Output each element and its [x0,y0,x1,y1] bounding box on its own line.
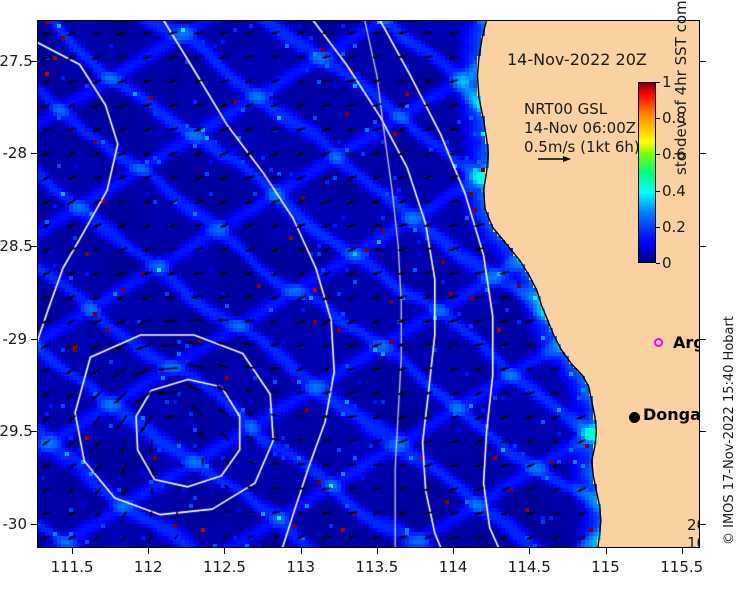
y-tick-label: -29.5 [0,422,27,440]
x-tick-label: 113 [286,558,315,576]
y-tick-right [700,339,706,340]
x-tick-label: 113.5 [355,558,398,576]
y-tick-right [700,153,706,154]
x-tick-label: 114.5 [508,558,551,576]
x-tick [224,548,225,554]
x-tick-label: 115.5 [660,558,703,576]
depth-legend-200m: 200m [687,516,700,534]
y-tick-label: -27.5 [0,52,27,70]
colorbar [638,82,656,263]
colorbar-gradient [639,83,655,262]
dongara-marker-icon [629,412,640,423]
y-tick-label: -30 [0,515,27,533]
colorbar-tick [656,118,660,119]
x-tick-label: 114 [439,558,468,576]
y-tick-right [700,524,706,525]
x-tick [453,548,454,554]
y-tick-right [700,61,706,62]
x-tick [606,548,607,554]
x-tick [72,548,73,554]
colorbar-title: std dev of 4hr SST comp [672,0,690,175]
copyright-text: © IMOS 17-Nov-2022 15:40 Hobart [722,316,737,545]
colorbar-tick-label: 1 [662,73,672,91]
x-tick-label: 112 [134,558,163,576]
colorbar-tick [656,191,660,192]
figure-root: 14-Nov-2022 20Z NRT00 GSL 14-Nov 06:00Z … [0,0,740,592]
x-tick [682,548,683,554]
colorbar-tick [656,263,660,264]
source-annotation: NRT00 GSL 14-Nov 06:00Z 0.5m/s (1kt 6h) [524,100,640,157]
y-tick-label: -29 [0,330,27,348]
argo-float-icon [654,338,663,347]
y-tick [31,524,37,525]
colorbar-tick [656,227,660,228]
colorbar-tick-label: 0.2 [662,218,686,236]
x-tick-label: 111.5 [51,558,94,576]
colorbar-tick-label: 0 [662,254,672,272]
velocity-scale-arrow [537,153,571,165]
colorbar-tick-label: 0.4 [662,182,686,200]
colorbar-tick [656,82,660,83]
y-tick-label: -28.5 [0,237,27,255]
x-tick [529,548,530,554]
x-tick [301,548,302,554]
y-tick [31,153,37,154]
x-tick [148,548,149,554]
argo-label: Argo [673,333,700,352]
colorbar-tick [656,154,660,155]
depth-legend-1000m: 1000m [687,534,700,548]
y-tick [31,339,37,340]
y-tick-label: -28 [0,144,27,162]
y-tick-right [700,431,706,432]
dongara-label: Dongara [643,405,700,424]
map-plot-area[interactable]: 14-Nov-2022 20Z NRT00 GSL 14-Nov 06:00Z … [37,20,700,548]
x-tick [377,548,378,554]
x-tick-label: 112.5 [203,558,246,576]
x-tick-label: 115 [591,558,620,576]
date-title: 14-Nov-2022 20Z [507,50,647,69]
source-line-2: 14-Nov 06:00Z [524,119,640,138]
depth-contour-legend: 200m 1000m [687,516,700,548]
y-tick-right [700,246,706,247]
source-line-1: NRT00 GSL [524,100,640,119]
